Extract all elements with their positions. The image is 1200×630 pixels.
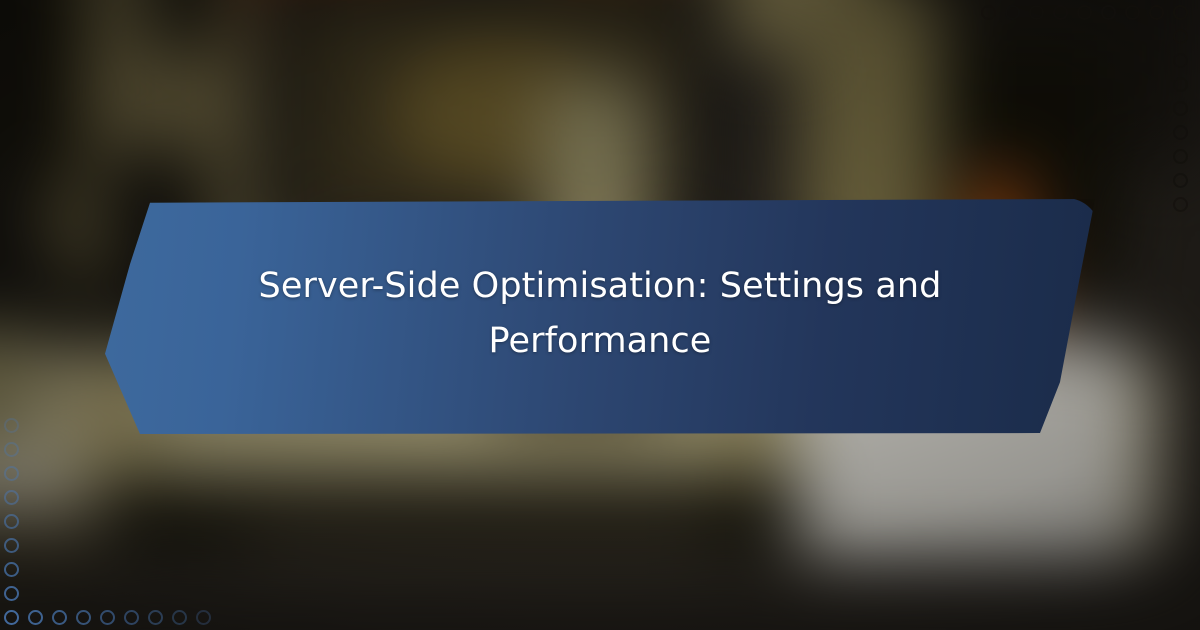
title-banner-shape: Server-Side Optimisation: Settings and P…: [100, 198, 1100, 434]
bg-shape-dark-column-a: [10, 0, 80, 180]
bg-shape-dark-rail-2: [250, 510, 710, 555]
share-card-canvas: Server-Side Optimisation: Settings and P…: [0, 0, 1200, 630]
title-banner-content: Server-Side Optimisation: Settings and P…: [100, 198, 1100, 434]
bg-shape-khaki-left: [0, 330, 50, 450]
title-banner: Server-Side Optimisation: Settings and P…: [100, 198, 1100, 434]
bg-shape-dark-column-c: [150, 0, 220, 50]
page-title: Server-Side Optimisation: Settings and P…: [255, 259, 945, 373]
bg-shape-dark-bottom-left: [0, 510, 100, 570]
